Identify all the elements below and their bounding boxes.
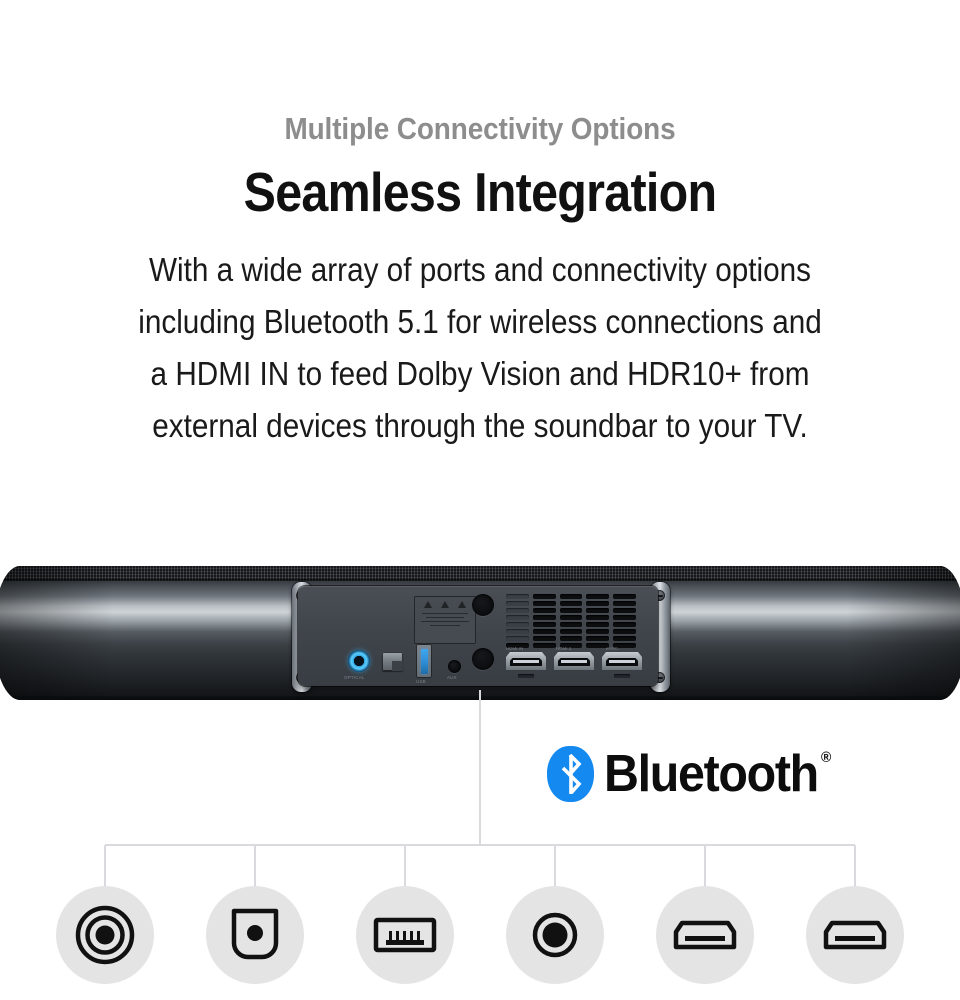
coaxial-icon[interactable]	[56, 886, 154, 984]
soundbar-right-shading	[846, 566, 960, 700]
bluetooth-rune-icon	[547, 746, 594, 802]
aux-port-caption: AUX	[447, 675, 457, 680]
rear-port-panel: OPTICAL USB AUX HDMI IN HDMI 2 eARC	[298, 586, 658, 686]
bluetooth-wordmark: Bluetooth ®	[604, 748, 818, 800]
page-title: Seamless Integration	[58, 145, 903, 221]
optical-port	[348, 650, 370, 672]
optical-port-caption: OPTICAL	[344, 675, 365, 680]
bluetooth-logo: Bluetooth ®	[547, 746, 834, 802]
hdmi-port-2	[554, 652, 594, 670]
usb-port-caption: USB	[416, 679, 426, 684]
lan-port	[382, 652, 403, 671]
warning-triangle-icon	[424, 601, 432, 608]
hdmi-port-1-tab	[518, 674, 534, 678]
connectivity-icon-row	[0, 886, 960, 986]
usb-port	[416, 644, 432, 678]
soundbar-bottom-edge	[0, 696, 960, 700]
bluetooth-wordmark-text: Bluetooth	[604, 745, 818, 803]
usb-icon[interactable]	[356, 886, 454, 984]
hdmi-port-2-caption: HDMI 2	[556, 646, 571, 651]
hero-text-block: Multiple Connectivity Options Seamless I…	[0, 0, 960, 452]
eyebrow-label: Multiple Connectivity Options	[48, 0, 912, 145]
hdmi-port-3-tab	[614, 674, 630, 678]
hdmi-port-1-caption: HDMI IN	[506, 646, 523, 651]
aux-icon[interactable]	[506, 886, 604, 984]
warning-triangle-icon	[458, 601, 466, 608]
registered-trademark-icon: ®	[821, 750, 830, 765]
speaker-grille-mesh	[0, 566, 960, 581]
wall-mount-keyhole	[472, 594, 494, 616]
optical-icon[interactable]	[206, 886, 304, 984]
hdmi-port-1	[506, 652, 546, 670]
hdmi-port-3	[602, 652, 642, 670]
aux-port	[448, 660, 461, 673]
hdmi-in-icon[interactable]	[656, 886, 754, 984]
regulatory-label	[414, 596, 476, 644]
hdmi-port-3-caption: eARC	[606, 646, 618, 651]
warning-triangle-icon	[441, 601, 449, 608]
body-paragraph: With a wide array of ports and connectiv…	[134, 222, 827, 453]
hdmi-out-icon[interactable]	[806, 886, 904, 984]
ventilation-grid	[506, 594, 636, 648]
wall-mount-keyhole	[472, 648, 494, 670]
soundbar-left-shading	[0, 566, 114, 700]
